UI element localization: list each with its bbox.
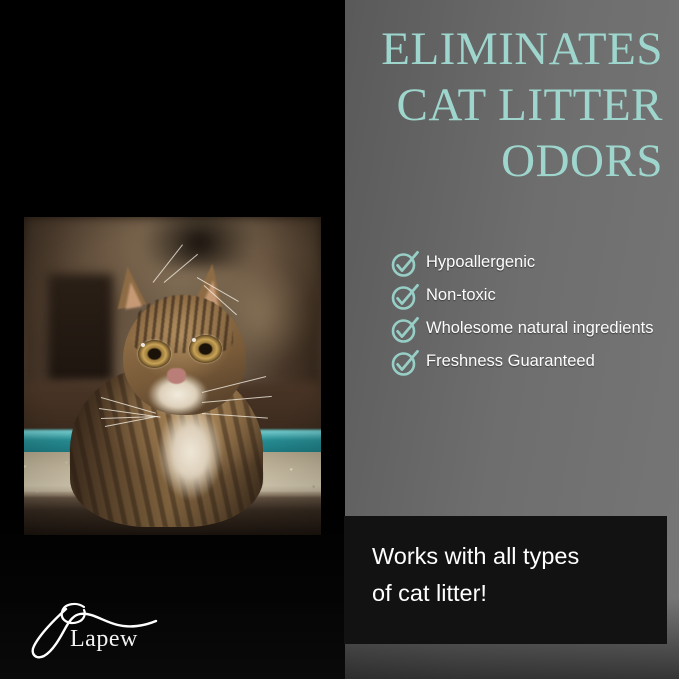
check-circle-icon [390, 283, 426, 311]
check-circle-icon-svg [390, 315, 420, 344]
check-circle-icon-svg [390, 282, 420, 311]
benefit-item: Hypoallergenic [390, 250, 672, 278]
kitten-photo [24, 217, 321, 535]
check-circle-icon-svg [390, 249, 420, 278]
check-circle-icon [390, 316, 426, 344]
brand-logo: Lapew [22, 600, 172, 662]
benefit-item: Freshness Guaranteed [390, 349, 672, 377]
callout-line-1: Works with all types [372, 538, 647, 575]
benefit-item: Non-toxic [390, 283, 672, 311]
product-ad-canvas: ELIMINATES CAT LITTER ODORS Hypoallergen… [0, 0, 679, 679]
photo-scene [24, 217, 321, 535]
callout-text: Works with all types of cat litter! [372, 538, 647, 612]
headline-line-2: CAT LITTER [263, 78, 663, 134]
callout-panel: Works with all types of cat litter! [344, 516, 667, 644]
benefit-label: Non-toxic [426, 283, 496, 308]
brand-name: Lapew [70, 626, 138, 653]
check-circle-icon [390, 250, 426, 278]
benefit-label: Wholesome natural ingredients [426, 316, 653, 341]
benefit-label: Freshness Guaranteed [426, 349, 595, 374]
callout-line-2: of cat litter! [372, 575, 647, 612]
benefit-label: Hypoallergenic [426, 250, 535, 275]
photo-vignette [24, 217, 321, 535]
headline-line-1: ELIMINATES [263, 22, 663, 78]
check-circle-icon-svg [390, 348, 420, 377]
benefit-item: Wholesome natural ingredients [390, 316, 672, 344]
check-circle-icon [390, 349, 426, 377]
benefits-list: Hypoallergenic Non-toxic Wholesome natur… [390, 250, 672, 382]
headline: ELIMINATES CAT LITTER ODORS [263, 22, 663, 190]
headline-line-3: ODORS [263, 134, 663, 190]
